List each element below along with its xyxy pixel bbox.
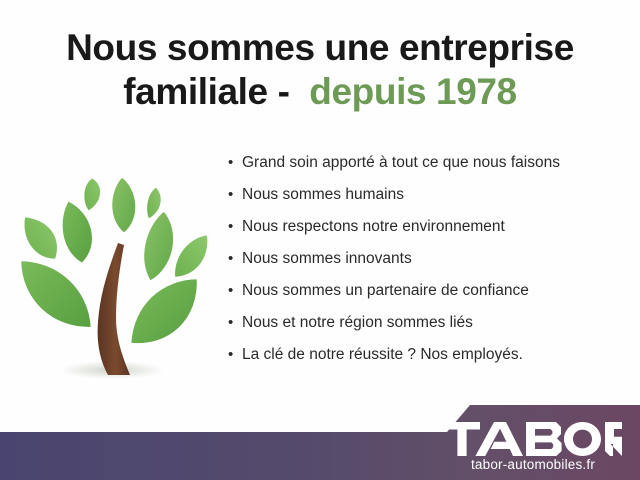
bullet-marker-icon: •: [228, 248, 242, 270]
list-item-label: Nous et notre région sommes liés: [242, 312, 473, 334]
bullet-marker-icon: •: [228, 312, 242, 334]
tree-illustration: [12, 142, 222, 392]
page-title: Nous sommes une entreprise familiale - d…: [0, 26, 640, 114]
list-item: • La clé de notre réussite ? Nos employé…: [228, 344, 628, 376]
bullet-marker-icon: •: [228, 280, 242, 302]
list-item: • Nous sommes un partenaire de confiance: [228, 280, 628, 312]
headline-line-1: Nous sommes une entreprise: [0, 26, 640, 70]
headline-accent-year: depuis 1978: [309, 71, 516, 112]
list-item-label: Nous sommes innovants: [242, 248, 412, 270]
list-item: • Nous sommes humains: [228, 184, 628, 216]
list-item: • Nous et notre région sommes liés: [228, 312, 628, 344]
list-item: • Grand soin apporté à tout ce que nous …: [228, 152, 628, 184]
list-item-label: Nous sommes un partenaire de confiance: [242, 280, 529, 302]
bullet-marker-icon: •: [228, 344, 242, 366]
list-item-label: La clé de notre réussite ? Nos employés.: [242, 344, 523, 366]
bullet-marker-icon: •: [228, 184, 242, 206]
value-bullet-list: • Grand soin apporté à tout ce que nous …: [228, 152, 628, 376]
headline-line-2: familiale - depuis 1978: [0, 70, 640, 114]
bullet-marker-icon: •: [228, 152, 242, 174]
list-item-label: Nous sommes humains: [242, 184, 404, 206]
footer-brand-bar: tabor-automobiles.fr: [0, 400, 640, 480]
list-item: • Nous respectons notre environnement: [228, 216, 628, 248]
list-item-label: Nous respectons notre environnement: [242, 216, 505, 238]
list-item-label: Grand soin apporté à tout ce que nous fa…: [242, 152, 560, 174]
list-item: • Nous sommes innovants: [228, 248, 628, 280]
bullet-marker-icon: •: [228, 216, 242, 238]
tree-icon: [12, 142, 222, 392]
brand-bar-shape: [0, 400, 640, 480]
headline-line-2-prefix: familiale -: [123, 71, 309, 112]
tree-trunk: [98, 243, 130, 375]
